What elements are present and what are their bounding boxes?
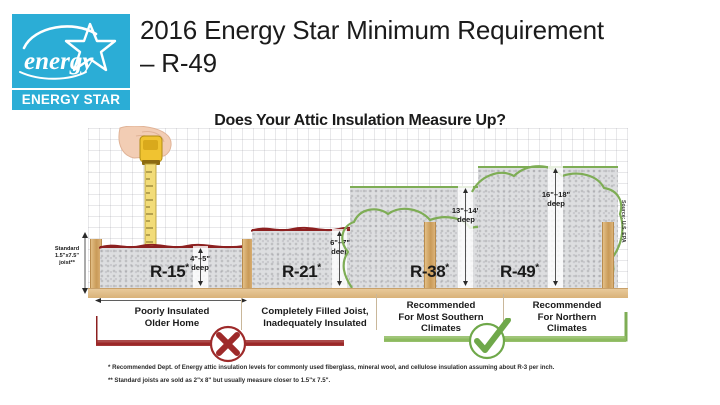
standard-joist-note-line3: joist** — [50, 260, 84, 267]
r-value-label-r15: R-15* — [150, 262, 189, 282]
page-title: 2016 Energy Star Minimum Requirement – R… — [140, 14, 610, 80]
depth-value-r49: 16"–18" — [532, 190, 580, 199]
r-value-label-r38: R-38* — [410, 262, 449, 282]
standard-joist-note-line1: Standard — [50, 246, 84, 253]
standard-joist-note: Standard 1.5"x7.5" joist** — [50, 246, 84, 267]
attic-insulation-diagram: Standard 1.5"x7.5" joist** 4"–5" deep R-… — [0, 128, 720, 358]
svg-text:energy: energy — [24, 48, 94, 75]
standard-joist-note-line2: 1.5"x7.5" — [50, 253, 84, 260]
depth-label-r49: 16"–18" deep — [532, 190, 580, 208]
footnote-1: * Recommended Dept. of Energy attic insu… — [108, 364, 554, 372]
joist-right-4 — [602, 222, 614, 288]
footnote-2: ** Standard joists are sold as 2"x 8" bu… — [108, 377, 330, 385]
caption-separator-2 — [376, 294, 377, 330]
energy-star-mark-icon: energy — [12, 14, 130, 88]
r-value-label-r49: R-49* — [500, 262, 539, 282]
r-value-label-r21: R-21* — [282, 262, 321, 282]
depth-unit-r49: deep — [532, 199, 580, 208]
source-label: Source: U.S. EPA — [620, 200, 626, 243]
depth-arrow-r38 — [461, 188, 470, 286]
slide-canvas: energy ENERGY STAR 2016 Energy Star Mini… — [0, 0, 720, 405]
energy-star-logo: energy ENERGY STAR — [12, 14, 130, 110]
logo-wordmark-bar: ENERGY STAR — [12, 90, 130, 110]
logo-label: ENERGY STAR — [12, 90, 130, 110]
floor-board — [88, 288, 628, 298]
depth-arrow-r49 — [551, 168, 560, 286]
x-circle-icon — [208, 324, 248, 364]
insulation-wave-top-r15 — [99, 240, 244, 252]
check-circle-icon — [466, 318, 512, 362]
